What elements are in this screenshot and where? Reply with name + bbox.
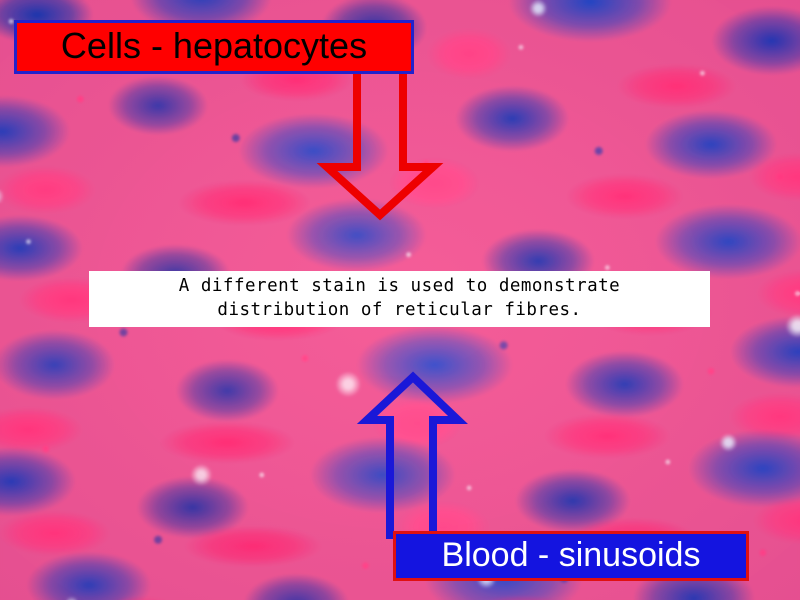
slide-canvas: Cells - hepatocytes A different stain is… xyxy=(0,0,800,600)
blue-up-arrow-icon xyxy=(365,375,465,540)
caption-line-1: A different stain is used to demonstrate xyxy=(179,275,620,299)
label-blood-text: Blood - sinusoids xyxy=(442,538,701,572)
label-blood-sinusoids[interactable]: Blood - sinusoids xyxy=(393,531,749,581)
label-cells-text: Cells - hepatocytes xyxy=(61,28,367,64)
label-cells-hepatocytes[interactable]: Cells - hepatocytes xyxy=(14,20,414,74)
caption-box: A different stain is used to demonstrate… xyxy=(89,271,710,327)
red-down-arrow-icon xyxy=(330,60,440,225)
caption-line-2: distribution of reticular fibres. xyxy=(217,299,581,323)
